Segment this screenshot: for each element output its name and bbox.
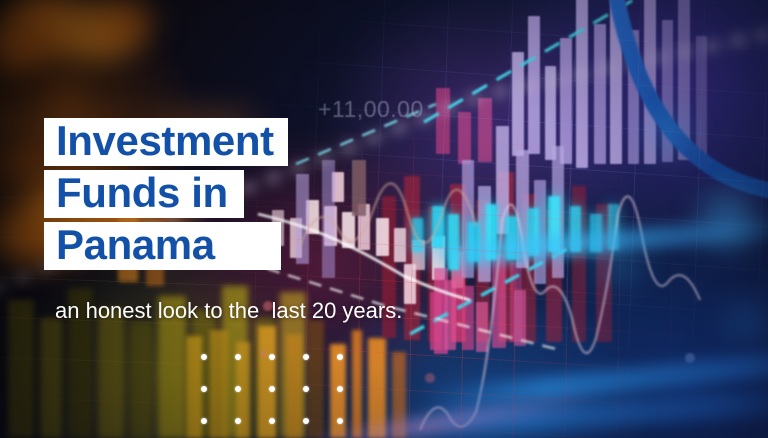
title-line-1: Investment	[44, 118, 288, 166]
title-line-2: Funds in	[44, 170, 244, 218]
grid-dot	[201, 418, 207, 424]
grid-dot	[269, 418, 275, 424]
grid-dot	[303, 354, 309, 360]
title-line-2-text: Funds in	[56, 173, 228, 213]
grid-dot	[337, 386, 343, 392]
page-title: Investment Funds in Panama	[44, 118, 288, 270]
decorative-dot-grid	[201, 354, 371, 438]
grid-dot	[303, 386, 309, 392]
grid-dot	[201, 386, 207, 392]
grid-dot	[201, 354, 207, 360]
grid-dot	[269, 354, 275, 360]
page-subtitle: an honest look to the last 20 years.	[55, 298, 402, 324]
grid-dot	[235, 354, 241, 360]
grid-dot	[235, 418, 241, 424]
grid-dot	[235, 386, 241, 392]
grid-dot	[337, 418, 343, 424]
grid-dot	[303, 418, 309, 424]
grid-dot	[337, 354, 343, 360]
hero-banner: +11,00.00 Investment Funds in Panama an …	[0, 0, 768, 438]
title-line-3-text: Panama	[56, 225, 215, 265]
grid-dot	[269, 386, 275, 392]
title-line-1-text: Investment	[56, 121, 274, 161]
title-line-3: Panama	[44, 222, 281, 270]
